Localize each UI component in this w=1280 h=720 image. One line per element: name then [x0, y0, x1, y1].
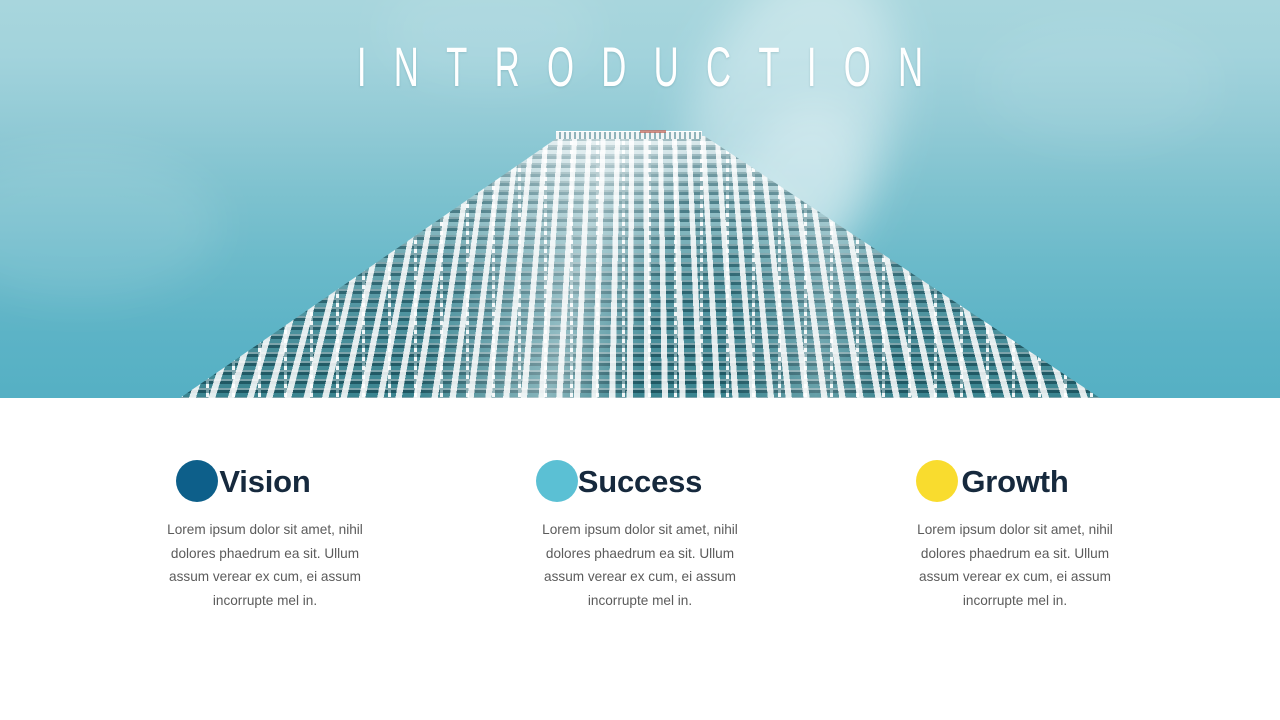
feature-columns: Vision Lorem ipsum dolor sit amet, nihil…: [100, 456, 1180, 612]
slide-canvas: INTRODUCTION Vision Lorem ipsum dolor si…: [0, 0, 1280, 720]
facade-glass-reflections: [180, 136, 1100, 398]
feature-heading: Growth: [961, 462, 1068, 502]
page-title: INTRODUCTION: [243, 38, 1037, 96]
hero-photo: INTRODUCTION: [0, 0, 1280, 398]
feature-column-success: Success Lorem ipsum dolor sit amet, nihi…: [475, 456, 805, 612]
feature-heading-row: Vision: [100, 456, 430, 508]
feature-heading-row: Success: [475, 456, 805, 508]
cyan-circle-icon: [536, 460, 578, 502]
rooftop-marker: [640, 130, 666, 133]
feature-heading: Success: [578, 462, 702, 502]
feature-body-text: Lorem ipsum dolor sit amet, nihil dolore…: [528, 518, 752, 612]
yellow-circle-icon: [916, 460, 958, 502]
feature-heading-row: Growth: [850, 456, 1180, 508]
feature-body-text: Lorem ipsum dolor sit amet, nihil dolore…: [903, 518, 1127, 612]
rooftop-equipment: [556, 131, 702, 139]
building-main-facade: [180, 136, 1100, 398]
feature-column-growth: Growth Lorem ipsum dolor sit amet, nihil…: [850, 456, 1180, 612]
feature-column-vision: Vision Lorem ipsum dolor sit amet, nihil…: [100, 456, 430, 612]
blue-circle-icon: [176, 460, 218, 502]
feature-body-text: Lorem ipsum dolor sit amet, nihil dolore…: [153, 518, 377, 612]
feature-heading: Vision: [219, 462, 310, 502]
content-panel: Vision Lorem ipsum dolor sit amet, nihil…: [0, 398, 1280, 720]
